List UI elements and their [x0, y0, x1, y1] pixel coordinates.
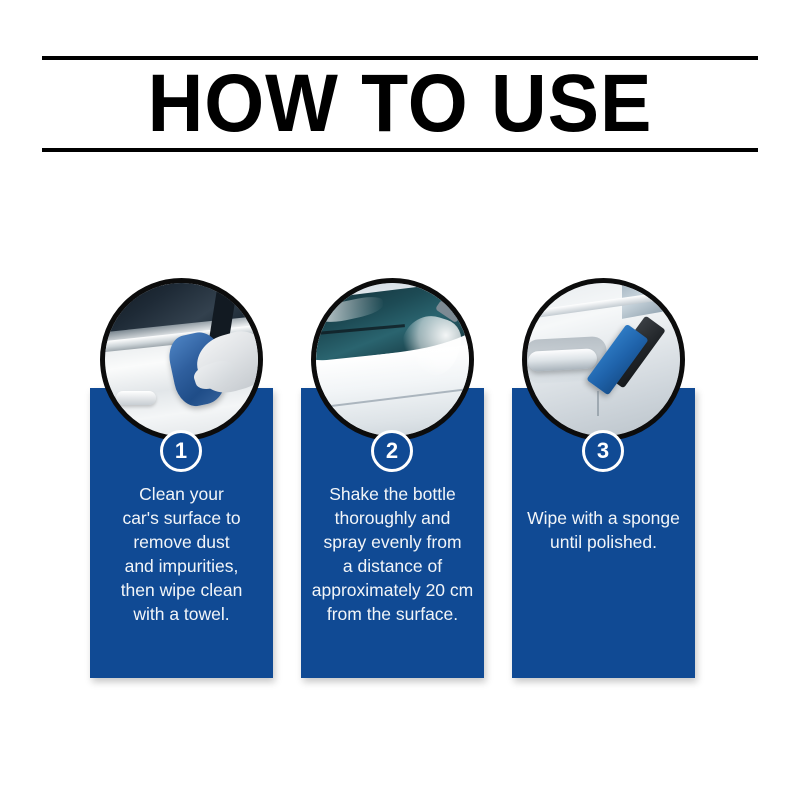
- step-badge-2: 2: [371, 430, 413, 472]
- title-rule-bottom: [42, 148, 758, 152]
- car-sponge-scene-icon: [527, 283, 680, 436]
- steps-row: 1 Clean your car's surface to remove dus…: [0, 270, 800, 700]
- title-block: HOW TO USE: [42, 56, 758, 152]
- step-badge-1: 1: [160, 430, 202, 472]
- step-photo-3-inner: [527, 283, 680, 436]
- step-photo-1-inner: [105, 283, 258, 436]
- step-card-3: 3 Wipe with a sponge until polished.: [512, 270, 695, 680]
- car-spray-scene-icon: [316, 283, 469, 436]
- step-caption-3: Wipe with a sponge until polished.: [518, 506, 689, 554]
- step-caption-2: Shake the bottle thoroughly and spray ev…: [307, 482, 478, 626]
- car-wipe-scene-icon: [105, 283, 258, 436]
- step-photo-1: [100, 278, 263, 441]
- step-caption-1: Clean your car's surface to remove dust …: [96, 482, 267, 626]
- step-card-2: 2 Shake the bottle thoroughly and spray …: [301, 270, 484, 680]
- step-photo-2-inner: [316, 283, 469, 436]
- page-title: HOW TO USE: [63, 60, 736, 148]
- step-card-1: 1 Clean your car's surface to remove dus…: [90, 270, 273, 680]
- step-photo-3: [522, 278, 685, 441]
- step-photo-2: [311, 278, 474, 441]
- step-badge-3: 3: [582, 430, 624, 472]
